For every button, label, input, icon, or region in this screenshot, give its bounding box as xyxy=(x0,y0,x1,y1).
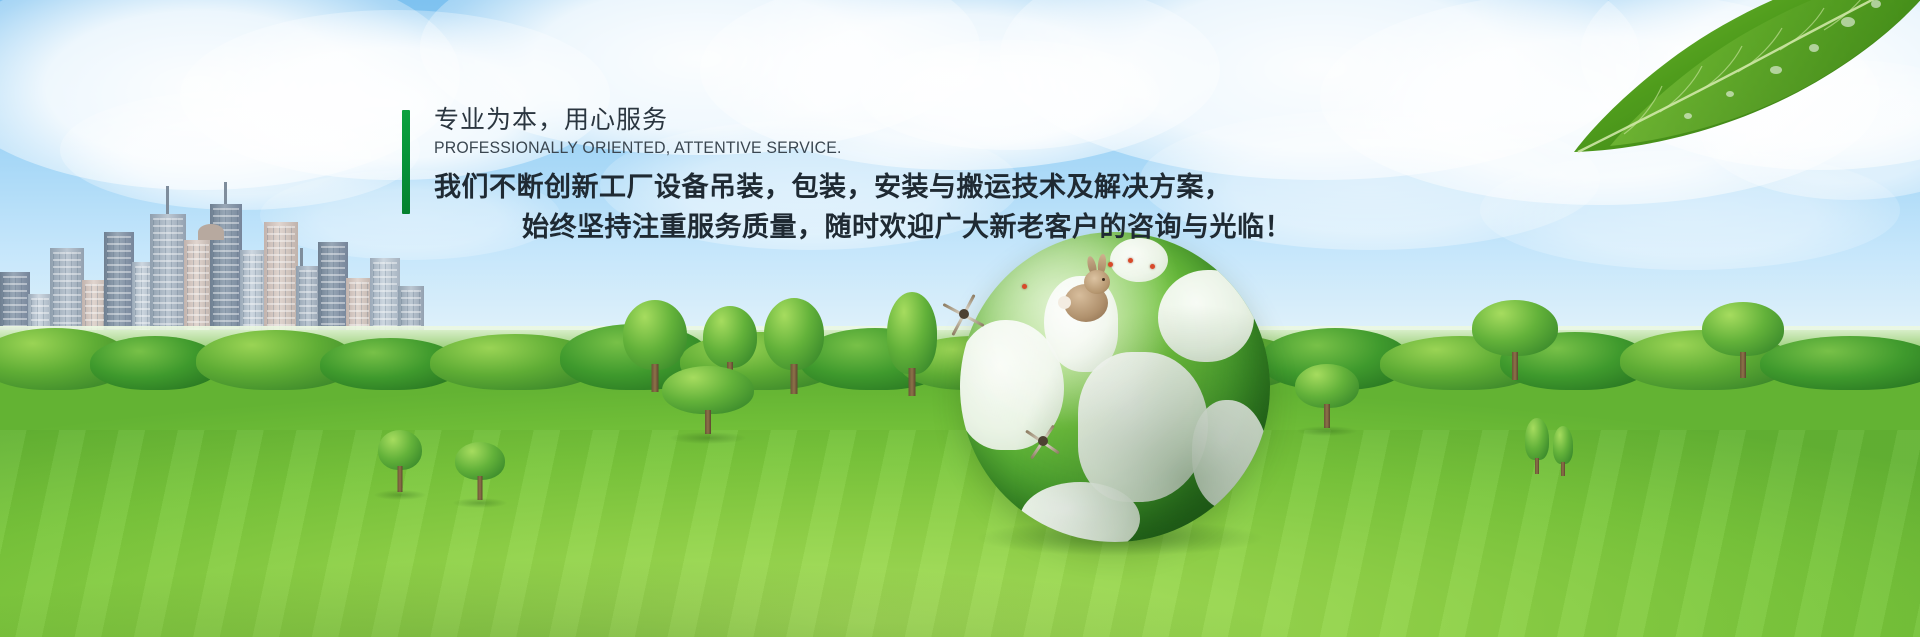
windmill-icon xyxy=(938,288,990,340)
headline-cn: 专业为本，用心服务 xyxy=(434,104,1452,137)
tree xyxy=(880,292,944,396)
green-globe xyxy=(960,232,1270,542)
cloud-shape xyxy=(0,0,460,190)
tree xyxy=(660,366,756,436)
accent-bar xyxy=(402,110,410,214)
banner-copy: 专业为本，用心服务 PROFESSIONALLY ORIENTED, ATTEN… xyxy=(402,104,1452,246)
body-line-1: 我们不断创新工厂设备吊装，包装，安装与搬运技术及解决方案， xyxy=(434,169,1452,205)
hero-banner: 专业为本，用心服务 PROFESSIONALLY ORIENTED, ATTEN… xyxy=(0,0,1920,637)
leaf-icon xyxy=(1378,0,1920,172)
tree xyxy=(1470,300,1560,380)
tree xyxy=(374,430,426,492)
rabbit xyxy=(1058,258,1114,324)
tree xyxy=(1700,302,1786,378)
tree xyxy=(1548,426,1578,476)
tree xyxy=(760,298,828,394)
tree xyxy=(452,442,508,500)
tree xyxy=(1292,364,1362,428)
flower-dot xyxy=(1150,264,1155,269)
headline-en: PROFESSIONALLY ORIENTED, ATTENTIVE SERVI… xyxy=(434,139,1411,158)
flower-dot xyxy=(1128,258,1133,263)
body-line-2: 始终坚持注重服务质量，随时欢迎广大新老客户的咨询与光临！ xyxy=(434,209,1452,245)
flower-dot xyxy=(1022,284,1027,289)
windmill-icon xyxy=(1020,418,1066,464)
cloud-shape xyxy=(60,90,420,210)
